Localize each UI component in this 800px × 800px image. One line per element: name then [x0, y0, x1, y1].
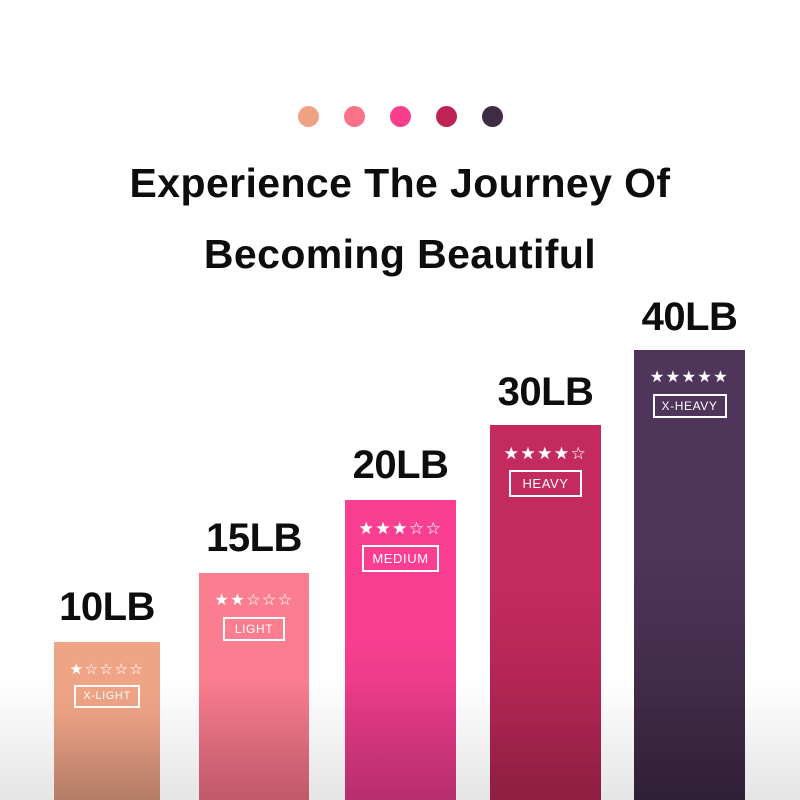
- bar-15lb-level-badge: LIGHT: [223, 617, 285, 641]
- bar-20lb-weight-label: 20LB: [353, 443, 449, 488]
- bar-30lb-level-badge: HEAVY: [509, 470, 581, 497]
- bar-20lb[interactable]: 20LB★★★☆☆MEDIUM: [345, 500, 456, 800]
- bar-40lb-star-rating: ★★★★★: [650, 370, 729, 386]
- bar-10lb-content: ★☆☆☆☆X-LIGHT: [54, 662, 160, 708]
- resistance-band-bar-chart: 10LB★☆☆☆☆X-LIGHT15LB★★☆☆☆LIGHT20LB★★★☆☆M…: [0, 0, 800, 800]
- bar-30lb[interactable]: 30LB★★★★☆HEAVY: [490, 425, 601, 800]
- bar-30lb-weight-label: 30LB: [498, 370, 594, 415]
- bar-15lb-star-rating: ★★☆☆☆: [214, 593, 293, 609]
- bar-40lb-content: ★★★★★X-HEAVY: [634, 370, 745, 418]
- bar-15lb[interactable]: 15LB★★☆☆☆LIGHT: [199, 573, 309, 800]
- bar-20lb-level-badge: MEDIUM: [362, 545, 438, 572]
- bar-20lb-column: ★★★☆☆MEDIUM: [345, 500, 456, 800]
- bar-40lb-level-badge: X-HEAVY: [653, 394, 727, 418]
- bar-40lb[interactable]: 40LB★★★★★X-HEAVY: [634, 350, 745, 800]
- bar-20lb-star-rating: ★★★☆☆: [359, 520, 443, 537]
- bar-30lb-column: ★★★★☆HEAVY: [490, 425, 601, 800]
- bar-30lb-content: ★★★★☆HEAVY: [490, 445, 601, 497]
- bar-10lb-column: ★☆☆☆☆X-LIGHT: [54, 642, 160, 800]
- bar-40lb-column: ★★★★★X-HEAVY: [634, 350, 745, 800]
- bar-15lb-weight-label: 15LB: [206, 516, 302, 561]
- bar-10lb[interactable]: 10LB★☆☆☆☆X-LIGHT: [54, 642, 160, 800]
- product-infographic: Experience The Journey Of Becoming Beaut…: [0, 0, 800, 800]
- bar-15lb-column: ★★☆☆☆LIGHT: [199, 573, 309, 800]
- bar-30lb-star-rating: ★★★★☆: [504, 445, 588, 462]
- bar-20lb-content: ★★★☆☆MEDIUM: [345, 520, 456, 572]
- bar-15lb-content: ★★☆☆☆LIGHT: [199, 593, 309, 641]
- bar-10lb-star-rating: ★☆☆☆☆: [70, 662, 145, 677]
- bar-40lb-weight-label: 40LB: [642, 295, 738, 340]
- bar-10lb-weight-label: 10LB: [59, 585, 155, 630]
- bar-10lb-level-badge: X-LIGHT: [74, 685, 140, 708]
